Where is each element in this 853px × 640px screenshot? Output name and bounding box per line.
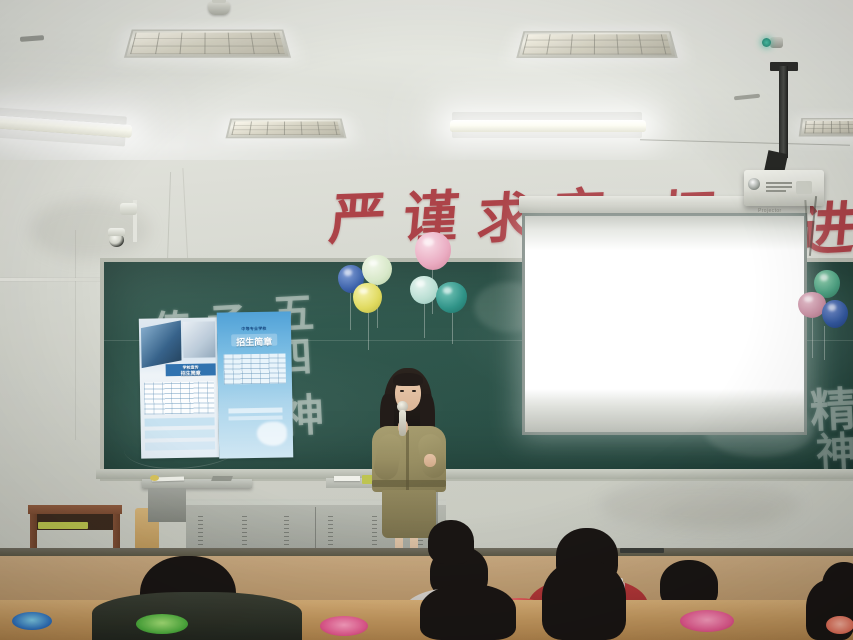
balloon-string-6 [452, 308, 453, 344]
balloon-string-1 [350, 288, 351, 330]
status-led-indicator [762, 38, 771, 47]
smoke-detector-icon [208, 2, 230, 15]
banner-char-1: 严 [326, 173, 389, 256]
ceiling [0, 0, 853, 172]
projection-screen[interactable] [522, 213, 807, 435]
lectern-paper-left [334, 476, 360, 481]
projector-pole [779, 66, 788, 158]
audience-head-front-2 [420, 584, 516, 640]
presenter-eye-left [400, 390, 404, 392]
ceiling-sensor-icon [770, 37, 783, 48]
ceiling-light-panel-1 [124, 30, 291, 58]
green-flower-decoration [136, 614, 188, 634]
ceiling-light-panel-4 [799, 118, 853, 136]
blue-flower-decoration [12, 612, 52, 630]
presenter-skirt [382, 490, 436, 538]
side-desk-body [148, 488, 186, 522]
coat-belt [372, 480, 446, 487]
audience-shoulders-camo [92, 592, 302, 640]
classroom-scene: 严 谨 求 实 拓 进 传 承 五 四 精 神 精 神 学校宣传 招生简章 中等… [0, 0, 853, 640]
presenter-eye-right [412, 390, 416, 392]
presenter-fringe [393, 373, 423, 386]
wooden-student-desk [28, 505, 122, 514]
ceiling-light-panel-3 [225, 119, 346, 139]
projection-screen-surface [525, 216, 804, 432]
presenter-hand-2 [424, 454, 436, 467]
wall-crack-2 [75, 230, 76, 440]
audience-head-far-5 [428, 520, 474, 564]
pink-flower-decoration-2 [680, 610, 734, 632]
ceiling-light-panel-2 [516, 31, 678, 58]
poster-right-headline: 招生简章 [217, 334, 291, 348]
recruitment-poster-right: 中等专业学校 招生简章 [217, 311, 294, 458]
chalk-ledge [96, 469, 853, 479]
projector-brand-label: Projector [758, 208, 800, 214]
balloon-string-5 [424, 300, 425, 338]
poster-left-headline: 招生简章 [166, 369, 216, 377]
desk-green-book [38, 522, 88, 529]
floor-object-dark [620, 548, 664, 553]
projector-lens [748, 178, 760, 190]
pink-flower-decoration-1 [320, 616, 368, 636]
ceiling-tube-light-2 [450, 120, 646, 132]
balloon-string-8 [812, 318, 813, 358]
recruitment-poster-left: 学校宣传 招生简章 [139, 317, 219, 458]
chalk-char-7: 精 [808, 373, 853, 441]
desk-small-object [150, 475, 159, 481]
poster-right-seal [257, 421, 287, 446]
microphone[interactable] [399, 410, 406, 436]
poster-right-org: 中等专业学校 [217, 325, 291, 332]
balloon-string-7 [824, 326, 825, 360]
balloon-string-3 [368, 310, 369, 350]
wall-smudge-3 [660, 500, 780, 528]
orange-flower-decoration [826, 616, 853, 634]
desk-tool [211, 476, 233, 481]
audience-head-front-3 [542, 560, 626, 640]
